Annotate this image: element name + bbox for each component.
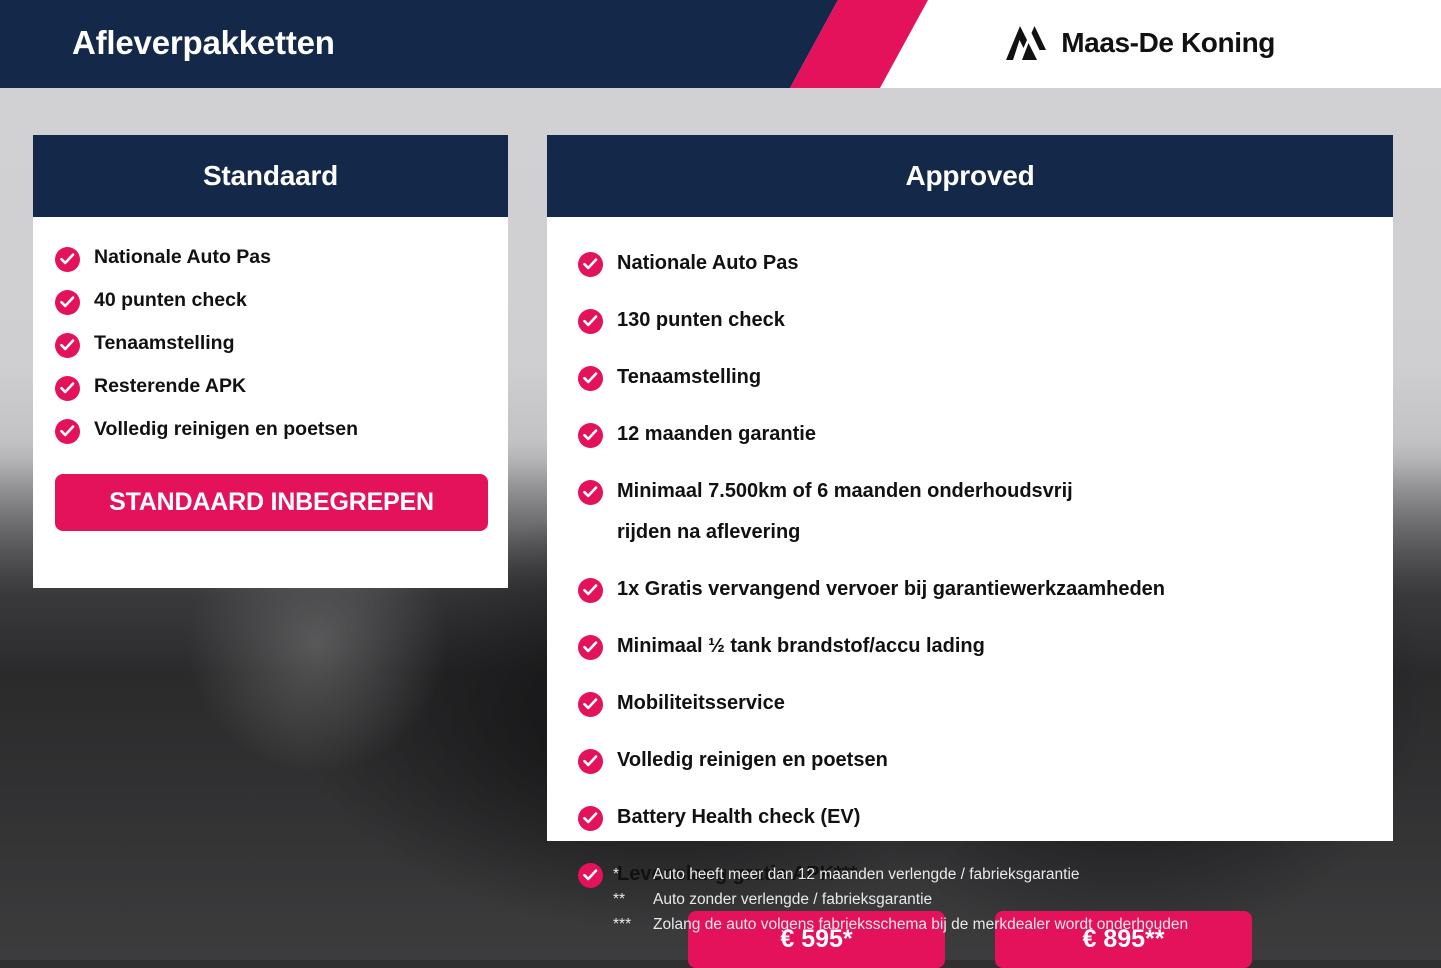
list-item: Tenaamstelling — [578, 357, 1393, 398]
check-circle-icon — [578, 480, 603, 505]
list-item: Mobiliteitsservice — [578, 683, 1393, 724]
feature-label: 12 maanden garantie — [617, 414, 816, 455]
brand-logo: Maas-De Koning — [1004, 24, 1275, 62]
list-item: Nationale Auto Pas — [55, 245, 508, 272]
check-circle-icon — [55, 419, 80, 444]
list-item: Battery Health check (EV) — [578, 797, 1393, 838]
check-circle-icon — [578, 252, 603, 277]
list-item: Volledig reinigen en poetsen — [578, 740, 1393, 781]
check-circle-icon — [578, 806, 603, 831]
pricing-card-approved: Approved Nationale Auto Pas 130 punten c… — [547, 135, 1393, 841]
check-circle-icon — [578, 635, 603, 660]
footnote-triple-asterisk: *** Zolang de auto volgens fabrieksschem… — [613, 912, 1373, 937]
brand-name: Maas-De Koning — [1061, 27, 1275, 59]
check-circle-icon — [55, 290, 80, 315]
footnote-marker: * — [613, 862, 653, 887]
feature-label: 1x Gratis vervangend vervoer bij garanti… — [617, 569, 1165, 610]
card-header-standaard: Standaard — [33, 135, 508, 217]
check-circle-icon — [55, 376, 80, 401]
feature-list-approved: Nationale Auto Pas 130 punten check Tena… — [547, 217, 1393, 895]
list-item: Minimaal 7.500km of 6 maanden onderhouds… — [578, 471, 1393, 553]
pricing-card-standaard: Standaard Nationale Auto Pas 40 punten c… — [33, 135, 508, 588]
feature-label: Tenaamstelling — [617, 357, 761, 398]
card-header-approved: Approved — [547, 135, 1393, 217]
feature-label: Resterende APK — [94, 374, 246, 398]
list-item: 130 punten check — [578, 300, 1393, 341]
footnote-single-asterisk: * Auto heeft meer dan 12 maanden verleng… — [613, 862, 1373, 887]
list-item: 12 maanden garantie — [578, 414, 1393, 455]
feature-label-line1: Minimaal 7.500km of 6 maanden onderhouds… — [617, 471, 1073, 512]
feature-label: Volledig reinigen en poetsen — [94, 417, 358, 441]
footnote-double-asterisk: ** Auto zonder verlengde / fabrieksgaran… — [613, 887, 1373, 912]
list-item: Tenaamstelling — [55, 331, 508, 358]
feature-label: 130 punten check — [617, 300, 785, 341]
footnote-text: Zolang de auto volgens fabrieksschema bi… — [653, 912, 1373, 937]
check-circle-icon — [578, 423, 603, 448]
list-item: 40 punten check — [55, 288, 508, 315]
maas-de-koning-m-mark-icon — [1004, 24, 1048, 62]
feature-label-multiline: Minimaal 7.500km of 6 maanden onderhouds… — [617, 471, 1073, 553]
feature-label: Nationale Auto Pas — [617, 243, 799, 284]
list-item: Minimaal ½ tank brandstof/accu lading — [578, 626, 1393, 667]
feature-label-line2: rijden na aflevering — [617, 512, 1073, 553]
card-title-standaard: Standaard — [203, 160, 338, 192]
page-header: Afleverpakketten Maas-De Koning — [0, 0, 1441, 88]
check-circle-icon — [578, 749, 603, 774]
footnote-marker: *** — [613, 912, 653, 937]
page-title: Afleverpakketten — [72, 24, 335, 62]
feature-label: Tenaamstelling — [94, 331, 235, 355]
feature-label: Battery Health check (EV) — [617, 797, 860, 838]
check-circle-icon — [55, 333, 80, 358]
card-title-approved: Approved — [905, 160, 1034, 192]
list-item: Resterende APK — [55, 374, 508, 401]
feature-label: 40 punten check — [94, 288, 247, 312]
feature-label: Minimaal ½ tank brandstof/accu lading — [617, 626, 985, 667]
feature-label: Nationale Auto Pas — [94, 245, 271, 269]
footnotes-block: * Auto heeft meer dan 12 maanden verleng… — [613, 862, 1373, 937]
check-circle-icon — [578, 366, 603, 391]
feature-label: Mobiliteitsservice — [617, 683, 785, 724]
check-circle-icon — [578, 692, 603, 717]
check-circle-icon — [578, 578, 603, 603]
footnote-marker: ** — [613, 887, 653, 912]
standaard-cta-wrapper: STANDAARD INBEGREPEN — [33, 460, 508, 531]
list-item: Volledig reinigen en poetsen — [55, 417, 508, 444]
check-circle-icon — [578, 863, 603, 888]
footnote-text: Auto zonder verlengde / fabrieksgarantie — [653, 887, 1373, 912]
standaard-inbegrepen-button[interactable]: STANDAARD INBEGREPEN — [55, 474, 488, 531]
check-circle-icon — [578, 309, 603, 334]
list-item: Nationale Auto Pas — [578, 243, 1393, 284]
feature-list-standaard: Nationale Auto Pas 40 punten check Tenaa… — [33, 217, 508, 444]
feature-label: Volledig reinigen en poetsen — [617, 740, 888, 781]
list-item: 1x Gratis vervangend vervoer bij garanti… — [578, 569, 1393, 610]
check-circle-icon — [55, 247, 80, 272]
footnote-text: Auto heeft meer dan 12 maanden verlengde… — [653, 862, 1373, 887]
